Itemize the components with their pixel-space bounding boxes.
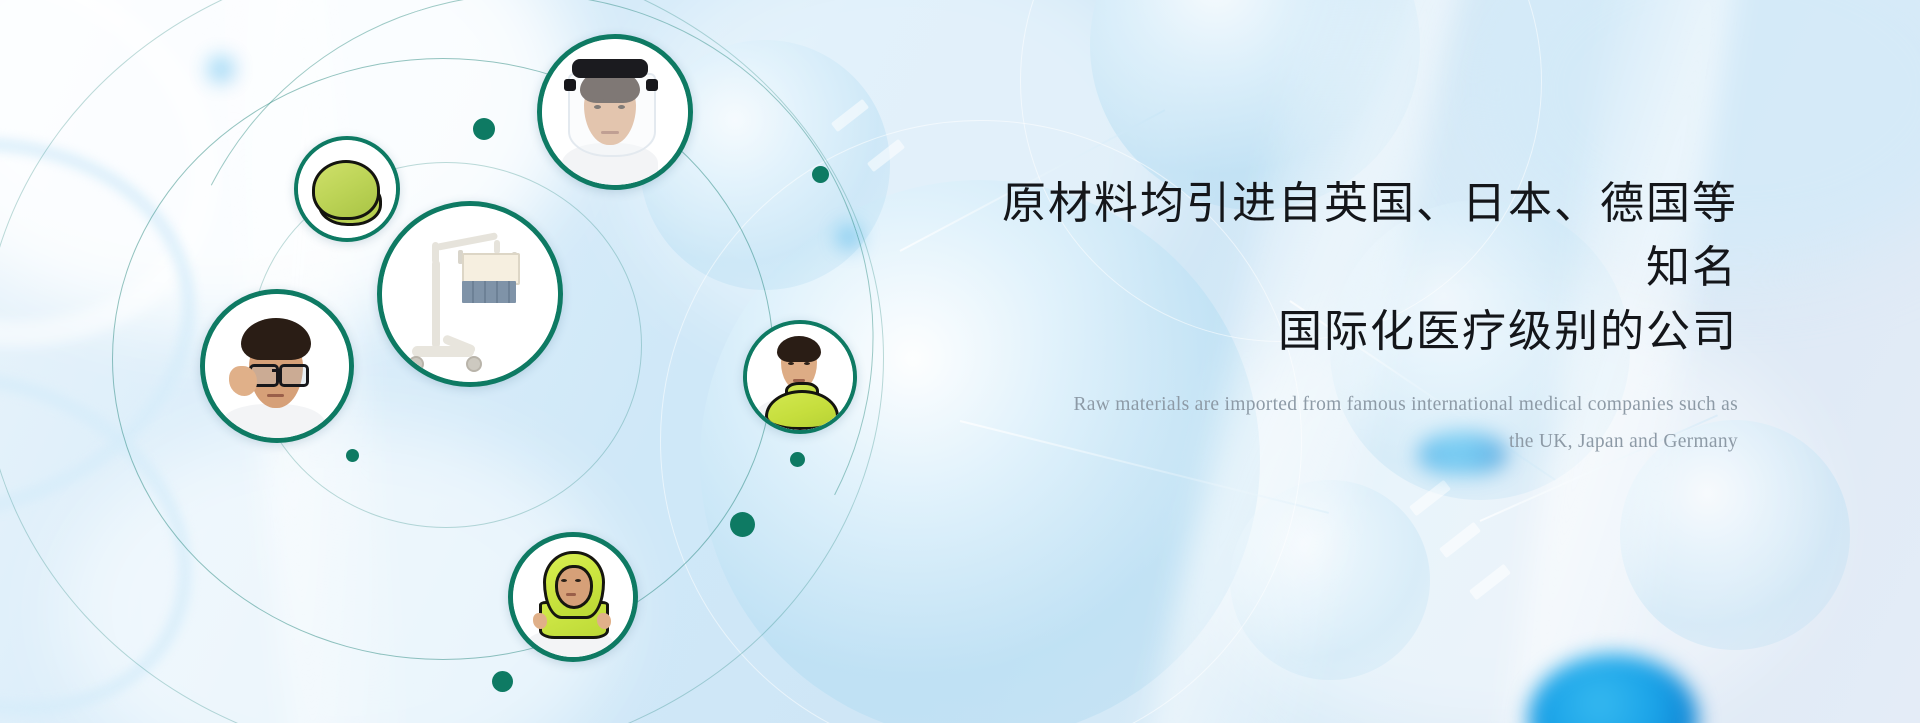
visor-knob-shape (646, 79, 658, 91)
visor-headband-shape (572, 59, 648, 78)
headline-line-2: 国际化医疗级别的公司 (978, 300, 1738, 364)
stand-arm-shape (436, 232, 498, 251)
hand-shape (597, 613, 611, 629)
hand-shape (229, 366, 257, 396)
subtitle-line-1: Raw materials are imported from famous i… (1073, 394, 1738, 415)
stand-arm-shape (494, 240, 500, 254)
stand-pole-shape (432, 260, 440, 348)
node-face-shield[interactable] (537, 34, 693, 190)
hair-shape (777, 336, 821, 362)
orbit-dot (346, 449, 359, 462)
node-protective-hood[interactable] (508, 532, 638, 662)
banner-subtitle: Raw materials are imported from famous i… (978, 386, 1738, 460)
orbit-diagram (0, 0, 880, 723)
node-lead-glasses[interactable] (200, 289, 354, 443)
shirt-shape (221, 404, 325, 438)
node-image (513, 537, 633, 657)
subtitle-line-2: the UK, Japan and Germany (978, 423, 1738, 460)
caster-wheel-shape (408, 356, 424, 372)
glasses-bridge-shape (272, 369, 280, 372)
deep-blue-accent (1528, 654, 1698, 723)
node-image (298, 140, 396, 238)
node-image (542, 39, 688, 185)
hair-shape (241, 318, 311, 360)
orbit-dot (473, 118, 495, 140)
node-thyroid-collar[interactable] (743, 320, 857, 434)
eye-shape (804, 362, 810, 365)
visor-glass-shape (568, 73, 656, 157)
banner-headline: 原材料均引进自英国、日本、德国等知名 国际化医疗级别的公司 (978, 172, 1738, 364)
mouth-shape (267, 394, 284, 397)
orbit-dot (790, 452, 805, 467)
mouth-shape (566, 593, 576, 596)
glasses-lens-shape (279, 364, 309, 387)
shield-curtain-shape (462, 281, 516, 303)
orbit-dot (492, 671, 513, 692)
node-image (747, 324, 853, 430)
eye-shape (575, 579, 581, 582)
thyroid-collar-shape (765, 390, 839, 430)
dash-accent (1439, 522, 1481, 559)
node-mobile-barrier[interactable] (377, 201, 563, 387)
orbit-dot (812, 166, 829, 183)
orbit-dot (730, 512, 755, 537)
caster-wheel-shape (466, 356, 482, 372)
banner-copy: 原材料均引进自英国、日本、德国等知名 国际化医疗级别的公司 Raw materi… (978, 172, 1738, 460)
eye-shape (788, 362, 794, 365)
headline-line-1: 原材料均引进自英国、日本、德国等知名 (1002, 179, 1738, 292)
cap-crown-shape (312, 160, 380, 220)
hero-banner: 原材料均引进自英国、日本、德国等知名 国际化医疗级别的公司 Raw materi… (0, 0, 1920, 723)
molecule-sphere (1230, 480, 1430, 680)
node-image (205, 294, 349, 438)
node-image (382, 206, 558, 382)
visor-knob-shape (564, 79, 576, 91)
eye-shape (561, 579, 567, 582)
hood-face-opening-shape (555, 565, 593, 609)
dash-accent (1409, 480, 1451, 517)
node-lead-cap[interactable] (294, 136, 400, 242)
hand-shape (533, 613, 547, 629)
dash-accent (1469, 564, 1511, 601)
